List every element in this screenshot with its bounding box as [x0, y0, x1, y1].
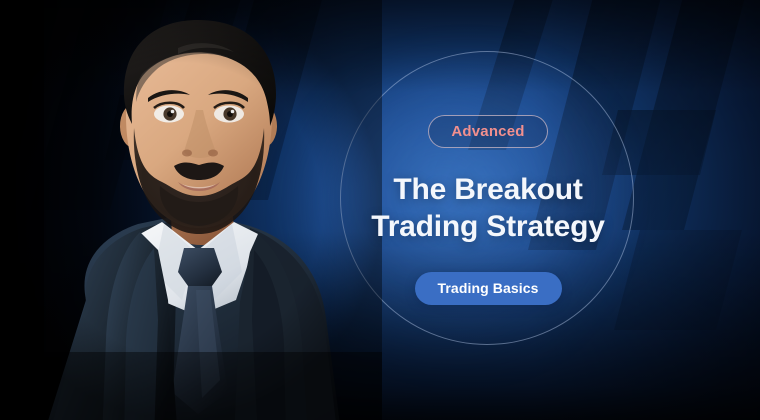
course-banner: Advanced The Breakout Trading Strategy T…: [0, 0, 760, 420]
topic-badge[interactable]: Trading Basics: [415, 272, 562, 305]
course-title-line-1: The Breakout: [371, 172, 605, 209]
difficulty-badge[interactable]: Advanced: [428, 115, 547, 148]
banner-content: Advanced The Breakout Trading Strategy T…: [330, 0, 646, 420]
instructor-portrait: [0, 0, 382, 420]
course-title: The Breakout Trading Strategy: [371, 172, 605, 245]
course-title-line-2: Trading Strategy: [371, 209, 605, 246]
